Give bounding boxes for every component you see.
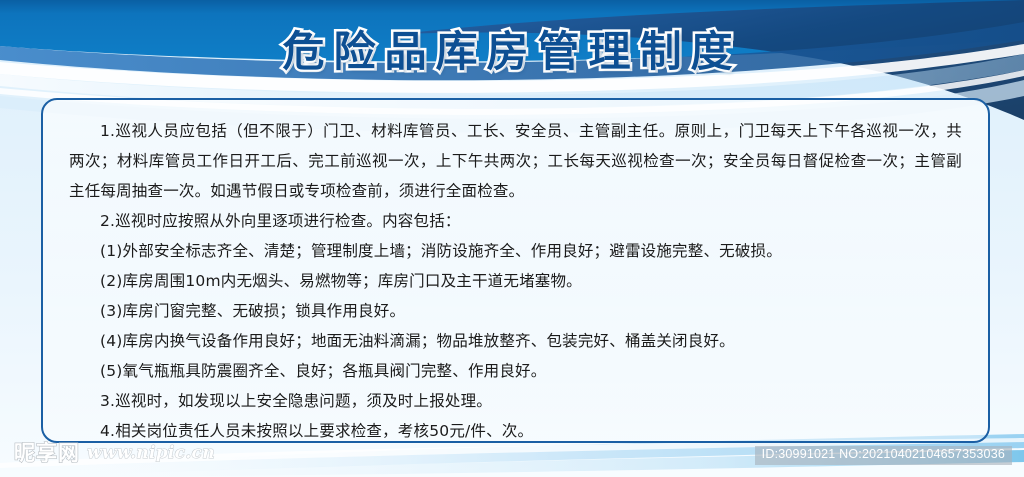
watermark-brand: 昵享网 www.nipic.cn [14, 443, 215, 464]
poster-root: 危险品库房管理制度 1.巡视人员应包括（但不限于）门卫、材料库管员、工长、安全员… [0, 0, 1024, 477]
content-card: 1.巡视人员应包括（但不限于）门卫、材料库管员、工长、安全员、主管副主任。原则上… [41, 98, 990, 443]
rule-subitem-2-4: (4)库房内换气设备作用良好；地面无油料滴漏；物品堆放整齐、包装完好、桶盖关闭良… [69, 326, 962, 356]
rule-subitem-2-3: (3)库房门窗完整、无破损；锁具作用良好。 [69, 296, 962, 326]
nipic-logo-text: 昵享网 [14, 443, 80, 464]
footer-watermark-bar: 昵享网 www.nipic.cn ID:30991021 NO:20210402… [0, 440, 1024, 477]
watermark-id-label: ID:30991021 NO:20210402104657353036 [755, 446, 1012, 465]
rule-subitem-2-5: (5)氧气瓶瓶具防震圈齐全、良好；各瓶具阀门完整、作用良好。 [69, 356, 962, 386]
rule-subitem-2-2: (2)库房周围10m内无烟头、易燃物等；库房门口及主干道无堵塞物。 [69, 266, 962, 296]
rule-paragraph-3: 3.巡视时，如发现以上安全隐患问题，须及时上报处理。 [69, 386, 962, 416]
rule-paragraph-2: 2.巡视时应按照从外向里逐项进行检查。内容包括： [69, 206, 962, 236]
page-title: 危险品库房管理制度 [282, 30, 741, 74]
title-block: 危险品库房管理制度 [0, 30, 1024, 74]
content-card-body: 1.巡视人员应包括（但不限于）门卫、材料库管员、工长、安全员、主管副主任。原则上… [43, 100, 988, 456]
rule-paragraph-1: 1.巡视人员应包括（但不限于）门卫、材料库管员、工长、安全员、主管副主任。原则上… [69, 116, 962, 206]
rule-subitem-2-1: (1)外部安全标志齐全、清楚；管理制度上墙；消防设施齐全、作用良好；避雷设施完整… [69, 236, 962, 266]
nipic-url-text: www.nipic.cn [87, 445, 215, 462]
